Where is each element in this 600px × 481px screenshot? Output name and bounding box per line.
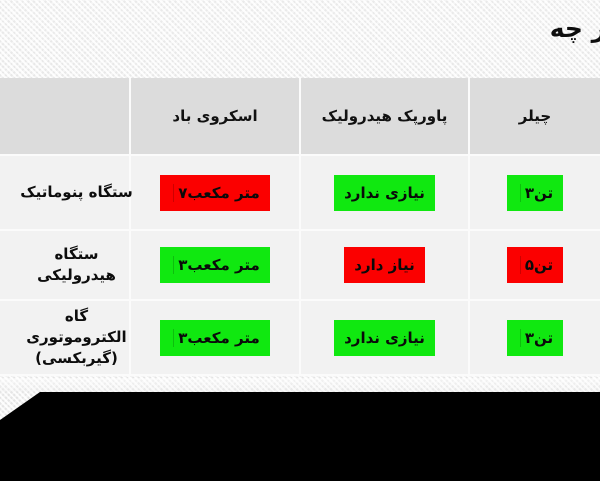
title-band: ر چه xyxy=(0,0,600,78)
status-badge: تن۳ xyxy=(507,175,563,211)
status-badge: متر مکعب۷ xyxy=(160,175,269,211)
table-body: تن۳ نیازی ندارد متر مکعب۷ ستگاه پنوماتیک xyxy=(0,155,600,375)
cell-chiller: تن۳ xyxy=(469,300,600,375)
status-badge: تن۵ xyxy=(507,247,563,283)
badge-value: ۷ xyxy=(173,184,187,202)
table-row: تن۳ نیازی ندارد متر مکعب۷ ستگاه پنوماتیک xyxy=(0,155,600,230)
row-label: ستگاه هیدرولیکی xyxy=(20,244,137,286)
column-header-chiller: چیلر xyxy=(469,78,600,155)
badge-unit: متر مکعب xyxy=(187,256,259,274)
cell-air-screw: متر مکعب۷ xyxy=(130,155,300,230)
cell-machine-label: ستگاه پنوماتیک xyxy=(0,155,130,230)
badge-value: ۵ xyxy=(520,256,534,274)
bottom-decorative-band xyxy=(0,392,600,481)
cell-machine-label: ستگاه هیدرولیکی xyxy=(0,230,130,300)
badge-value: ۳ xyxy=(173,256,187,274)
badge-unit: نیازی ندارد xyxy=(344,184,425,202)
badge-value: ۳ xyxy=(520,329,534,347)
slide-canvas: ر چه چیلر پاورپک هیدرولیک اسکروی باد تن۳ xyxy=(0,0,600,481)
badge-unit: متر مکعب xyxy=(187,329,259,347)
badge-value: ۳ xyxy=(173,329,187,347)
badge-value: ۳ xyxy=(520,184,534,202)
table-header-row: چیلر پاورپک هیدرولیک اسکروی باد xyxy=(0,78,600,155)
band-top-highlight xyxy=(0,378,600,392)
table-header: چیلر پاورپک هیدرولیک اسکروی باد xyxy=(0,78,600,155)
status-badge: متر مکعب۳ xyxy=(160,320,269,356)
page-title: ر چه xyxy=(550,12,600,46)
cell-hydraulic-powerpack: نیازی ندارد xyxy=(300,155,469,230)
row-label: ستگاه پنوماتیک xyxy=(20,182,137,203)
cell-machine-label: گاه الکتروموتوری (گیربکسی) xyxy=(0,300,130,375)
cell-chiller: تن۵ xyxy=(469,230,600,300)
badge-unit: تن xyxy=(534,184,553,202)
row-label: گاه الکتروموتوری (گیربکسی) xyxy=(20,306,137,369)
status-badge: متر مکعب۳ xyxy=(160,247,269,283)
comparison-table: چیلر پاورپک هیدرولیک اسکروی باد تن۳ نیاز… xyxy=(0,78,600,376)
column-header-air-screw: اسکروی باد xyxy=(130,78,300,155)
badge-unit: تن xyxy=(534,256,553,274)
badge-unit: متر مکعب xyxy=(187,184,259,202)
column-header-machine xyxy=(0,78,130,155)
badge-unit: نیاز دارد xyxy=(354,256,414,274)
badge-unit: تن xyxy=(534,329,553,347)
column-header-hydraulic-powerpack: پاورپک هیدرولیک xyxy=(300,78,469,155)
status-badge: نیاز دارد xyxy=(344,247,424,283)
status-badge: تن۳ xyxy=(507,320,563,356)
status-badge: نیازی ندارد xyxy=(334,320,435,356)
cell-hydraulic-powerpack: نیازی ندارد xyxy=(300,300,469,375)
table-row: تن۵ نیاز دارد متر مکعب۳ ستگاه هیدرولیکی xyxy=(0,230,600,300)
badge-unit: نیازی ندارد xyxy=(344,329,425,347)
table-row: تن۳ نیازی ندارد متر مکعب۳ گاه الکتروموتو… xyxy=(0,300,600,375)
cell-air-screw: متر مکعب۳ xyxy=(130,300,300,375)
status-badge: نیازی ندارد xyxy=(334,175,435,211)
cell-air-screw: متر مکعب۳ xyxy=(130,230,300,300)
cell-chiller: تن۳ xyxy=(469,155,600,230)
cell-hydraulic-powerpack: نیاز دارد xyxy=(300,230,469,300)
